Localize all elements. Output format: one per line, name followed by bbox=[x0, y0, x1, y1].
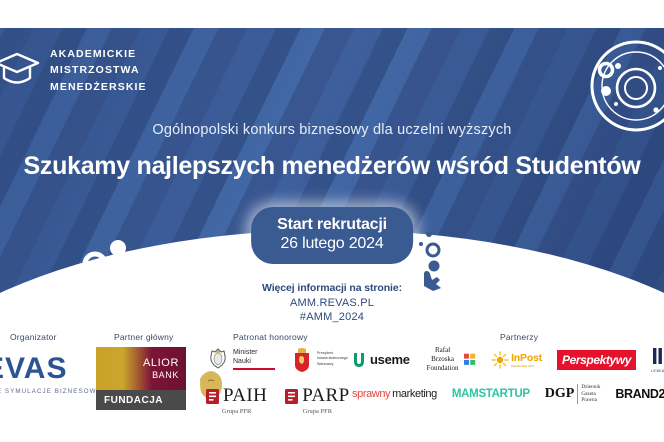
poster-root: AKADEMICKIE MISTRZOSTWA MENEDŻERSKIE Ogó… bbox=[0, 0, 664, 442]
minister-line-2: Nauki bbox=[233, 357, 275, 366]
alior-fundacja-label: FUNDACJA bbox=[104, 395, 163, 406]
logo-perspektywy[interactable]: Perspektywy bbox=[557, 350, 636, 370]
amm-logo-line-2: MISTRZOSTWA bbox=[50, 62, 147, 78]
patronat-row-2: PAIH Grupa PFR PARP Grupa PFR bbox=[206, 385, 350, 415]
pfr-mark-icon bbox=[206, 389, 219, 404]
paih-wordmark: PAIH bbox=[223, 385, 267, 407]
warsaw-crest-icon bbox=[291, 346, 313, 372]
dgp-subtitle: Dziennik Gazeta Prawna bbox=[577, 384, 600, 404]
useme-mark-icon bbox=[352, 352, 366, 368]
prezydent-text: Prezydent miasta stołecznego Warszawy bbox=[317, 351, 348, 367]
sprawny-word-b: marketing bbox=[392, 388, 437, 400]
prezydent-line-2: miasta stołecznego bbox=[317, 356, 348, 361]
graduation-cap-icon bbox=[0, 47, 40, 93]
amm-logo-line-3: MENEDŻERSKIE bbox=[50, 79, 147, 95]
category-label-patronat-honorowy: Patronat honorowy bbox=[233, 332, 308, 342]
inpost-sun-icon bbox=[491, 351, 509, 369]
minister-red-rule bbox=[233, 368, 275, 370]
dgp-sub-line-1: Dziennik bbox=[581, 384, 600, 391]
minister-text: Minister Nauki bbox=[233, 348, 275, 370]
partner-row-2: sprawny marketing MAMSTARTUP DGP Dzienni… bbox=[352, 384, 664, 404]
decor-circles-left bbox=[78, 236, 138, 280]
inpost-wordmark: InPost bbox=[511, 352, 542, 364]
category-label-partner-glowny: Partner główny bbox=[114, 332, 174, 342]
revas-tagline: OWE SYMULACJE BIZNESOWE bbox=[0, 388, 102, 395]
dgp-wordmark: DGP bbox=[545, 386, 575, 402]
logo-prezydent-warszawy[interactable]: Prezydent miasta stołecznego Warszawy bbox=[291, 346, 348, 372]
perspektywy-wordmark: Perspektywy bbox=[562, 353, 631, 367]
dgp-sub-line-2: Gazeta Prawna bbox=[581, 391, 600, 404]
cursor-pointer-icon bbox=[415, 228, 459, 296]
alior-wordmark: ALIOR BANK bbox=[143, 357, 179, 380]
more-info-lead: Więcej informacji na stronie: bbox=[0, 282, 664, 294]
badge-title: Start rekrutacji bbox=[277, 216, 387, 234]
inpost-text: InPost Paczkomaty 24/7 bbox=[511, 352, 542, 368]
rbf-line-2: Foundation bbox=[425, 364, 461, 373]
badge-date: 26 lutego 2024 bbox=[277, 235, 387, 253]
sprawny-word-a: sprawny bbox=[352, 388, 390, 400]
useme-wordmark: useme bbox=[370, 352, 410, 367]
logo-mamstartup[interactable]: MAMSTARTUP bbox=[452, 388, 530, 400]
lewiatan-mark-icon bbox=[651, 346, 664, 368]
parp-main: PARP bbox=[285, 385, 349, 407]
pfr-mark-icon bbox=[285, 389, 298, 404]
paih-group: Grupa PFR bbox=[222, 408, 251, 415]
sponsor-strip: Organizator Partner główny Patronat hono… bbox=[0, 328, 664, 442]
logo-sprawny-marketing[interactable]: sprawny marketing bbox=[352, 388, 437, 400]
lewiatan-label: LEWIATAN bbox=[651, 369, 664, 373]
prezydent-line-3: Warszawy bbox=[317, 362, 348, 367]
rbf-squares-icon bbox=[464, 353, 476, 366]
logo-rafal-brzoska-foundation[interactable]: Rafał Brzoska Foundation bbox=[425, 346, 476, 372]
inpost-tagline: Paczkomaty 24/7 bbox=[511, 364, 542, 368]
mamstartup-wordmark: MAMSTARTUP bbox=[452, 388, 530, 400]
category-label-partnerzy: Partnerzy bbox=[500, 332, 538, 342]
logo-brand24[interactable]: BRAND24 bbox=[615, 387, 664, 401]
logo-parp[interactable]: PARP Grupa PFR bbox=[285, 385, 349, 415]
website-url[interactable]: AMM.REVAS.PL bbox=[0, 297, 664, 309]
minister-line-1: Minister bbox=[233, 348, 275, 357]
alior-line-1: ALIOR bbox=[143, 357, 179, 370]
alior-line-2: BANK bbox=[143, 370, 179, 380]
paih-main: PAIH bbox=[206, 385, 267, 407]
hero-headline: Szukamy najlepszych menedżerów wśród Stu… bbox=[0, 152, 664, 181]
logo-revas[interactable]: EVAS OWE SYMULACJE BIZNESOWE bbox=[0, 354, 102, 395]
hero-kicker: Ogólnopolski konkurs biznesowy dla uczel… bbox=[0, 122, 664, 138]
brand24-wordmark: BRAND24 bbox=[615, 387, 664, 401]
logo-alior-bank-fundacja[interactable]: ALIOR BANK FUNDACJA bbox=[96, 347, 186, 410]
logo-paih[interactable]: PAIH Grupa PFR bbox=[206, 385, 267, 415]
alior-bank-crest: ALIOR BANK bbox=[96, 347, 186, 390]
rbf-line-1: Rafał Brzoska bbox=[425, 346, 461, 364]
decor-dots-top-right bbox=[596, 60, 622, 106]
alior-fundacja-bar: FUNDACJA bbox=[96, 390, 186, 410]
amm-logo[interactable]: AKADEMICKIE MISTRZOSTWA MENEDŻERSKIE bbox=[0, 46, 147, 95]
more-info-block: Więcej informacji na stronie: AMM.REVAS.… bbox=[0, 282, 664, 323]
parp-wordmark: PARP bbox=[302, 385, 349, 407]
logo-useme[interactable]: useme bbox=[352, 352, 410, 368]
rbf-text: Rafał Brzoska Foundation bbox=[425, 346, 461, 372]
amm-logo-line-1: AKADEMICKIE bbox=[50, 46, 147, 62]
parp-group: Grupa PFR bbox=[303, 408, 332, 415]
logo-lewiatan[interactable]: LEWIATAN bbox=[651, 346, 664, 373]
logo-inpost[interactable]: InPost Paczkomaty 24/7 bbox=[491, 351, 542, 369]
hashtag: #AMM_2024 bbox=[0, 311, 664, 323]
polish-eagle-icon bbox=[208, 347, 228, 371]
revas-wordmark: EVAS bbox=[0, 354, 102, 384]
logo-minister-nauki[interactable]: Minister Nauki bbox=[208, 347, 275, 371]
logo-dgp[interactable]: DGP Dziennik Gazeta Prawna bbox=[545, 384, 601, 404]
amm-logo-text: AKADEMICKIE MISTRZOSTWA MENEDŻERSKIE bbox=[50, 46, 147, 95]
category-label-organizator: Organizator bbox=[10, 332, 57, 342]
partner-row-1: useme Rafał Brzoska Foundation bbox=[352, 346, 664, 373]
recruitment-badge[interactable]: Start rekrutacji 26 lutego 2024 bbox=[251, 207, 413, 264]
patronat-row-1: Minister Nauki Prezydent miasta stołeczn… bbox=[208, 346, 348, 372]
